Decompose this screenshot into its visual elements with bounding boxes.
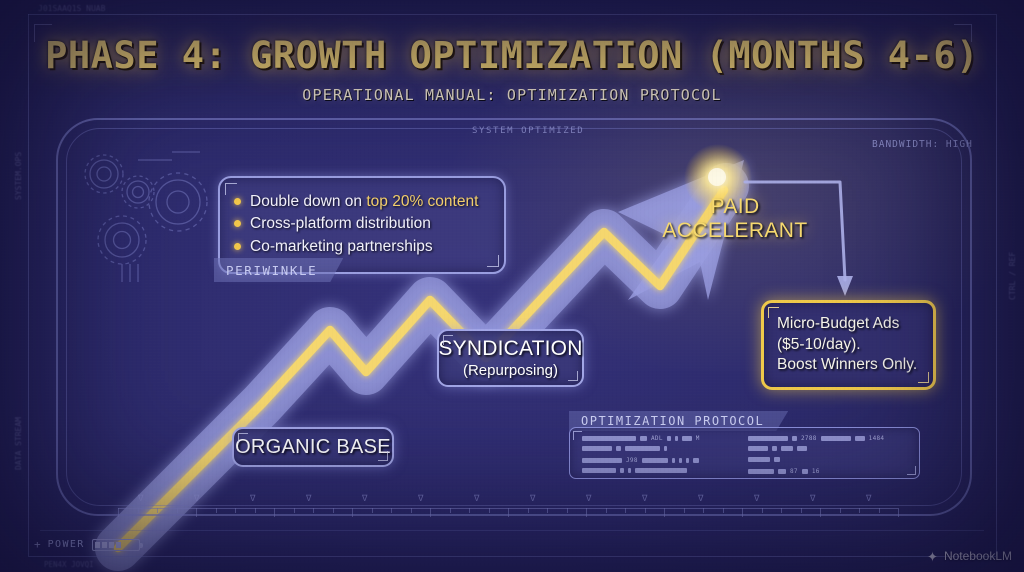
gears-decoration	[72, 142, 212, 282]
timeline-tick	[703, 508, 704, 513]
opt-data-value: J98	[626, 457, 638, 464]
timeline-tick	[255, 508, 256, 513]
timeline-tick	[781, 508, 782, 513]
timeline-tick	[352, 508, 353, 517]
timeline-tick	[235, 508, 236, 513]
list-item: Co-marketing partnerships	[234, 236, 488, 258]
opt-data-row: 27881484	[748, 435, 884, 442]
timeline-chevron-icon: ∇	[866, 494, 871, 504]
battery-cell	[95, 542, 100, 548]
timeline-tick	[586, 508, 587, 517]
bullet-dot-icon	[234, 243, 241, 250]
plus-icon: +	[34, 538, 41, 551]
timeline-tick	[879, 508, 880, 513]
timeline-tick	[294, 508, 295, 513]
opt-data-bar	[628, 468, 631, 473]
timeline-tick	[489, 508, 490, 513]
infographic-canvas: PHASE 4: GROWTH OPTIMIZATION (MONTHS 4-6…	[0, 0, 1024, 572]
timeline-tick	[430, 508, 431, 517]
timeline-tick	[333, 508, 334, 513]
hud-system-status: SYSTEM OPTIMIZED	[472, 126, 584, 136]
paid-accelerant-line-1: PAID	[650, 195, 820, 219]
opt-data-bar	[582, 458, 622, 463]
callout-line-3: Boost Winners Only.	[777, 355, 920, 376]
timeline-chevron-icon: ∇	[810, 494, 815, 504]
callout-line-2: ($5-10/day).	[777, 335, 920, 356]
stage-label-title: SYNDICATION	[438, 337, 582, 361]
timeline-tick	[196, 508, 197, 517]
power-label: POWER	[48, 539, 85, 550]
opt-data-bar	[778, 469, 786, 474]
notebooklm-logo-icon	[926, 550, 939, 563]
opt-data-value: ADL	[651, 435, 663, 442]
opt-data-bar	[748, 469, 774, 474]
opt-data-bar	[667, 436, 671, 441]
opt-data-bar	[582, 468, 616, 473]
timeline-tick	[547, 508, 548, 513]
opt-data-bar	[642, 458, 668, 463]
battery-cell	[102, 542, 107, 548]
timeline-tick	[801, 508, 802, 513]
timeline-chevron-icon: ∇	[418, 494, 423, 504]
timeline-chevron-icon: ∇	[754, 494, 759, 504]
stage-label-sub: (Repurposing)	[463, 362, 558, 379]
bullet-text: Cross-platform distribution	[250, 213, 431, 235]
battery-cell	[116, 542, 121, 548]
stage-label-organic-base: ORGANIC BASE	[232, 427, 394, 467]
opt-data-bar	[693, 458, 699, 463]
timeline-tick	[898, 508, 899, 517]
opt-data-value: 16	[812, 468, 820, 475]
timeline-tick	[625, 508, 626, 513]
periwinkle-tab: PERIWINKLE	[214, 258, 343, 282]
list-item: Double down on top 20% content	[234, 191, 488, 213]
opt-data-row	[748, 446, 807, 451]
frame-line-baseline	[40, 530, 984, 531]
timeline-tick	[391, 508, 392, 513]
opt-data-bar	[625, 446, 660, 451]
bullet-dot-icon	[234, 198, 241, 205]
opt-data-row	[582, 446, 667, 451]
watermark-label: NotebookLM	[944, 549, 1012, 563]
battery-icon	[92, 539, 140, 551]
opt-data-bar	[781, 446, 793, 451]
bullet-highlight: top 20% content	[366, 193, 478, 210]
timeline-tick	[508, 508, 509, 517]
opt-data-bar	[635, 468, 687, 473]
timeline-tick	[177, 508, 178, 513]
timeline-chevron-icon: ∇	[306, 494, 311, 504]
opt-data-bar	[664, 446, 667, 451]
timeline-tick	[528, 508, 529, 513]
stage-label-paid-accelerant: PAID ACCELERANT	[650, 195, 820, 244]
timeline-tick	[859, 508, 860, 513]
opt-data-row	[748, 457, 780, 462]
opt-data-value: M	[696, 435, 700, 442]
timeline-tick	[684, 508, 685, 513]
timeline-tick	[216, 508, 217, 513]
page-title: PHASE 4: GROWTH OPTIMIZATION (MONTHS 4-6…	[45, 34, 979, 77]
opt-data-bar	[772, 446, 777, 451]
opt-data-row: 8716	[748, 468, 820, 475]
opt-data-bar	[802, 469, 808, 474]
opt-data-bar	[679, 458, 682, 463]
bullet-text: Co-marketing partnerships	[250, 236, 433, 258]
opt-data-value: 87	[790, 468, 798, 475]
opt-data-bar	[792, 436, 797, 441]
power-indicator: + POWER	[34, 538, 140, 551]
opt-data-bar	[855, 436, 865, 441]
frame-line-bottom	[28, 556, 996, 557]
opt-data-bar	[748, 446, 768, 451]
hud-left-code-1: SYSTEM.OPS	[14, 152, 23, 200]
timeline-tick	[567, 508, 568, 513]
micro-budget-callout: Micro-Budget Ads ($5-10/day). Boost Winn…	[761, 300, 936, 390]
hud-left-code-2: DATA STREAM	[14, 417, 23, 470]
battery-cell	[109, 542, 114, 548]
timeline-tick	[840, 508, 841, 513]
timeline-tick	[664, 508, 665, 517]
stage-label-text: ORGANIC BASE	[235, 436, 391, 459]
timeline-chevron-icon: ∇	[138, 494, 143, 504]
timeline-chevron-icon: ∇	[362, 494, 367, 504]
timeline-tick	[411, 508, 412, 513]
opt-data-row: J98	[582, 457, 699, 464]
timeline-tick	[157, 508, 158, 513]
hud-bottom-code: PEN4X JOVQI	[44, 560, 94, 569]
timeline-tick	[372, 508, 373, 513]
list-item: Cross-platform distribution	[234, 213, 488, 235]
page-title-wrap: PHASE 4: GROWTH OPTIMIZATION (MONTHS 4-6…	[0, 34, 1024, 77]
opt-data-bar	[797, 446, 807, 451]
frame-line-top	[28, 14, 996, 15]
timeline-chevron-icon: ∇	[642, 494, 647, 504]
timeline-tick	[606, 508, 607, 513]
paid-accelerant-line-2: ACCELERANT	[650, 219, 820, 243]
stage-label-syndication: SYNDICATION (Repurposing)	[437, 329, 584, 387]
opt-data-bar	[640, 436, 647, 441]
notebooklm-watermark: NotebookLM	[926, 549, 1012, 563]
opt-data-bar	[686, 458, 689, 463]
opt-data-bar	[682, 436, 692, 441]
opt-data-bar	[672, 458, 675, 463]
opt-data-value: 2788	[801, 435, 817, 442]
opt-data-row: ADLM	[582, 435, 700, 442]
hud-right-code-1: CTRL / REF	[1008, 252, 1017, 300]
timeline-tick	[762, 508, 763, 513]
timeline-chevron-icon: ∇	[194, 494, 199, 504]
timeline-chevron-icon: ∇	[586, 494, 591, 504]
timeline-tick	[450, 508, 451, 513]
opt-data-value: 1484	[869, 435, 885, 442]
bullet-text: Double down on	[250, 193, 366, 210]
opt-data-bar	[821, 436, 851, 441]
timeline-chevron-icon: ∇	[530, 494, 535, 504]
timeline-tick	[645, 508, 646, 513]
opt-data-bar	[774, 457, 780, 462]
hud-top-left-code: J01SAAQ1S NUAB	[38, 4, 105, 13]
opt-data-row	[582, 468, 687, 473]
timeline-tick	[118, 508, 119, 517]
timeline-tick	[742, 508, 743, 517]
timeline-chevron-icon: ∇	[250, 494, 255, 504]
timeline-tick	[820, 508, 821, 517]
opt-data-bar	[748, 457, 770, 462]
timeline-chevron-icon: ∇	[474, 494, 479, 504]
hud-bandwidth: BANDWIDTH: HIGH	[872, 139, 973, 150]
timeline-tick	[313, 508, 314, 513]
opt-data-bar	[748, 436, 788, 441]
timeline-chevron-icon: ∇	[698, 494, 703, 504]
optimization-protocol-panel: OPTIMIZATION PROTOCOL ADLMJ98 2788148487…	[569, 411, 920, 479]
timeline-tick	[723, 508, 724, 513]
page-subtitle: OPERATIONAL MANUAL: OPTIMIZATION PROTOCO…	[0, 86, 1024, 104]
opt-data-bar	[582, 446, 612, 451]
callout-line-1: Micro-Budget Ads	[777, 314, 920, 335]
opt-data-bar	[616, 446, 621, 451]
timeline-tick	[469, 508, 470, 513]
opt-data-bar	[620, 468, 624, 473]
timeline-tick	[274, 508, 275, 517]
timeline-tick	[138, 508, 139, 513]
opt-data-bar	[582, 436, 636, 441]
opt-data-bar	[675, 436, 678, 441]
bullet-dot-icon	[234, 220, 241, 227]
opt-panel-body: ADLMJ98 278814848716	[569, 427, 920, 479]
